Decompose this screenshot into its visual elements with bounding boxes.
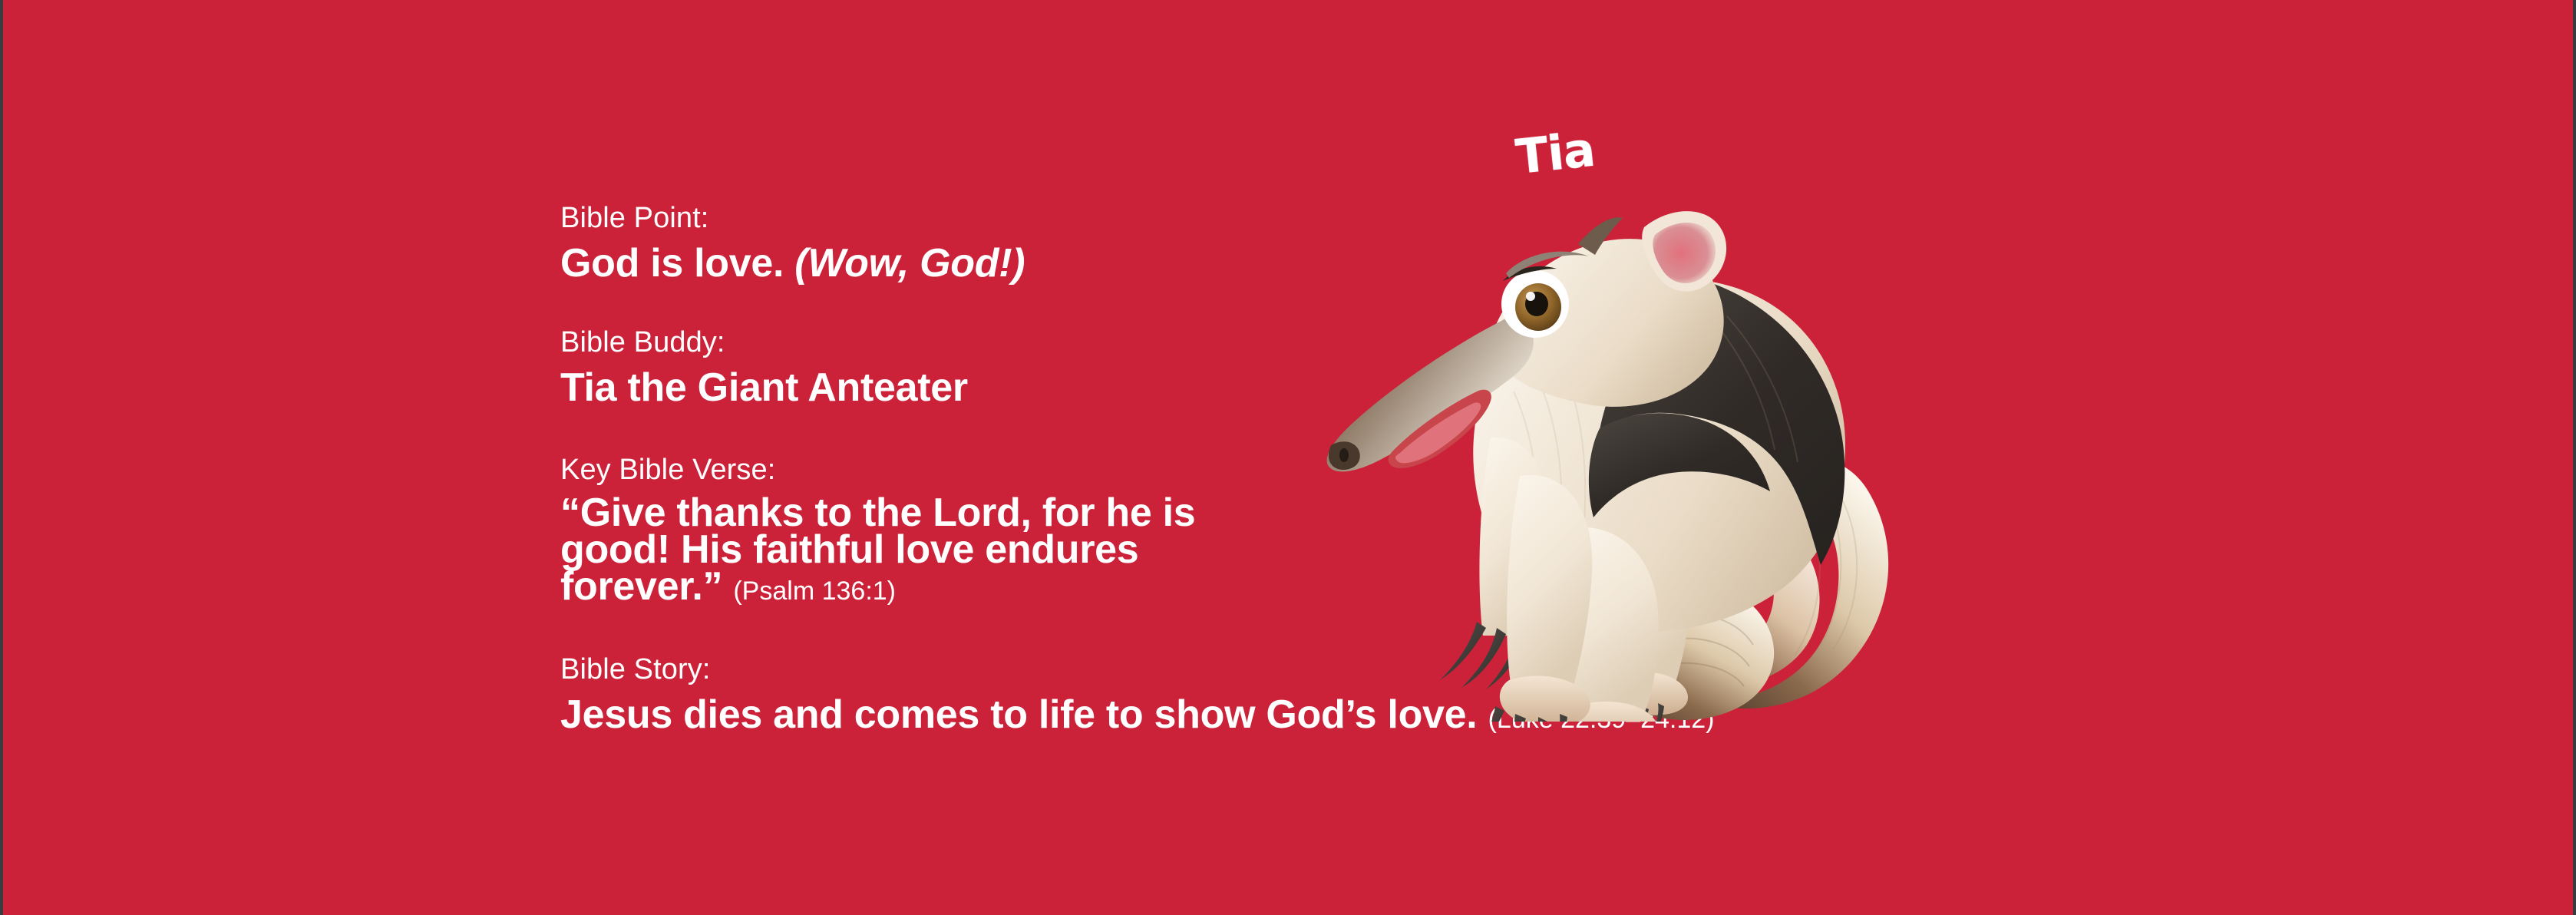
nostril [1339,448,1349,462]
slide-canvas: Bible Point: God is love. (Wow, God!) Bi… [0,0,2576,915]
key-bible-verse-reference: (Psalm 136:1) [733,576,896,606]
anteater-svg [1308,115,2122,722]
eye-highlight [1526,292,1535,301]
verse-line-3-text: forever.” [560,564,722,609]
bible-point-text: God is love. [560,241,784,286]
bible-point-emphasis: (Wow, God!) [794,241,1025,286]
anteater-illustration [1308,115,2122,722]
front-leg-near-shape [1507,475,1592,692]
